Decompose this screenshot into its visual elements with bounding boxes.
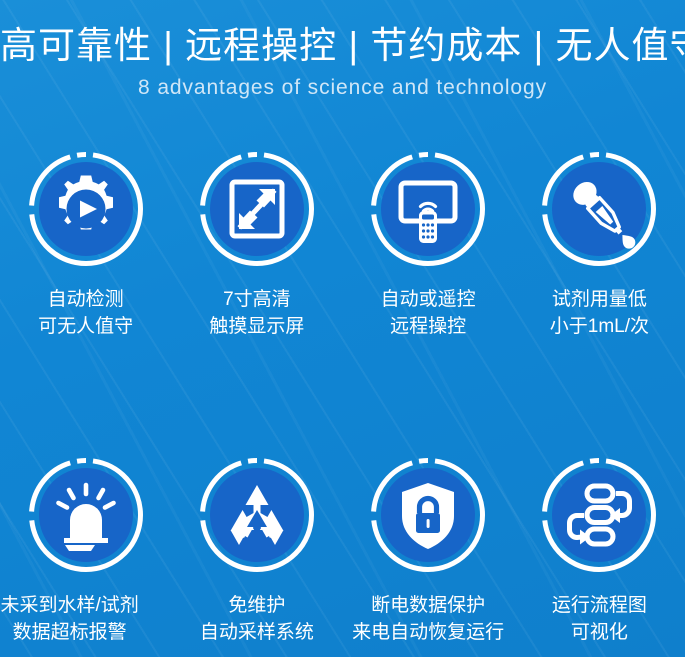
feature-caption-line-2: 数据超标报警	[0, 620, 138, 647]
feature-item-auto-detection[interactable]: 自动检测 可无人值守	[0, 152, 171, 340]
feature-caption-line-1: 未采到水样/试剂	[0, 593, 138, 620]
feature-caption-line-2: 自动采样系统	[200, 620, 314, 647]
feature-item-remote-control[interactable]: 自动或遥控 远程操控	[343, 152, 514, 340]
badge-maintenance-free	[200, 458, 314, 572]
alarm-siren-icon	[29, 458, 143, 572]
poster-header: 高可靠性 | 远程操控 | 节约成本 | 无人值守 8 advantages o…	[0, 0, 685, 100]
feature-item-low-reagent[interactable]: 试剂用量低 小于1mL/次	[514, 152, 685, 340]
feature-item-maintenance-free[interactable]: 免维护 自动采样系统	[171, 458, 342, 646]
gear-play-icon	[29, 152, 143, 266]
shield-lock-icon	[371, 458, 485, 572]
feature-caption: 7寸高清 触摸显示屏	[209, 287, 304, 340]
recycle-icon	[200, 458, 314, 572]
feature-caption-line-2: 远程操控	[381, 314, 476, 341]
feature-caption-line-1: 自动或遥控	[381, 287, 476, 314]
feature-caption-line-2: 可视化	[552, 620, 647, 647]
feature-item-alarm[interactable]: 未采到水样/试剂 数据超标报警	[0, 458, 171, 646]
feature-caption-line-2: 可无人值守	[38, 314, 133, 341]
feature-item-touch-screen[interactable]: 7寸高清 触摸显示屏	[171, 152, 342, 340]
feature-caption: 未采到水样/试剂 数据超标报警	[0, 593, 138, 646]
page-subtitle: 8 advantages of science and technology	[0, 69, 685, 100]
feature-caption-line-1: 断电数据保护	[352, 593, 504, 620]
feature-caption-line-2: 小于1mL/次	[550, 314, 649, 341]
badge-power-protection	[371, 458, 485, 572]
feature-caption-line-1: 运行流程图	[552, 593, 647, 620]
feature-caption: 自动检测 可无人值守	[38, 287, 133, 340]
badge-touch-screen	[200, 152, 314, 266]
feature-caption: 运行流程图 可视化	[552, 593, 647, 646]
poster-stage: 高可靠性 | 远程操控 | 节约成本 | 无人值守 8 advantages o…	[0, 0, 685, 657]
feature-caption: 自动或遥控 远程操控	[381, 287, 476, 340]
badge-remote-control	[371, 152, 485, 266]
page-title: 高可靠性 | 远程操控 | 节约成本 | 无人值守	[0, 0, 685, 69]
dropper-pipette-icon	[542, 152, 656, 266]
features-grid: 自动检测 可无人值守	[0, 152, 685, 646]
feature-caption-line-1: 自动检测	[38, 287, 133, 314]
feature-caption: 试剂用量低 小于1mL/次	[550, 287, 649, 340]
feature-item-power-protection[interactable]: 断电数据保护 来电自动恢复运行	[343, 458, 514, 646]
badge-alarm	[29, 458, 143, 572]
feature-caption-line-2: 触摸显示屏	[209, 314, 304, 341]
feature-caption-line-1: 7寸高清	[209, 287, 304, 314]
feature-item-flowchart[interactable]: 运行流程图 可视化	[514, 458, 685, 646]
features-row-1: 自动检测 可无人值守	[0, 152, 685, 340]
badge-flowchart	[542, 458, 656, 572]
expand-screen-icon	[200, 152, 314, 266]
feature-caption: 免维护 自动采样系统	[200, 593, 314, 646]
feature-caption-line-1: 试剂用量低	[550, 287, 649, 314]
features-row-2: 未采到水样/试剂 数据超标报警	[0, 458, 685, 646]
flowchart-loop-icon	[542, 458, 656, 572]
badge-auto-detection	[29, 152, 143, 266]
feature-caption: 断电数据保护 来电自动恢复运行	[352, 593, 504, 646]
feature-caption-line-1: 免维护	[200, 593, 314, 620]
feature-caption-line-2: 来电自动恢复运行	[352, 620, 504, 647]
tv-remote-wifi-icon	[371, 152, 485, 266]
badge-low-reagent	[542, 152, 656, 266]
